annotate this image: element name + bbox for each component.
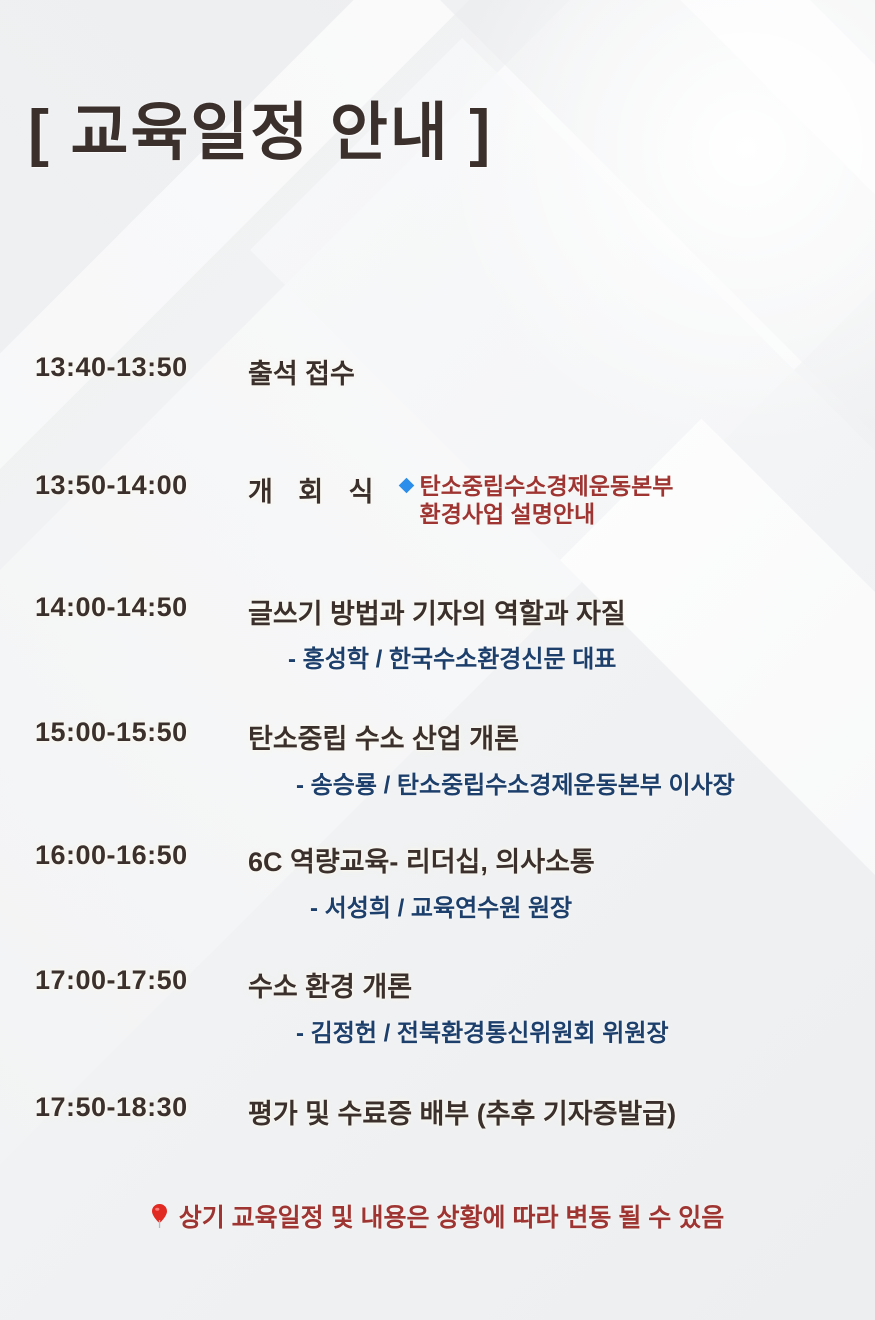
session-speaker: - 송승룡 / 탄소중립수소경제운동본부 이사장 xyxy=(296,765,875,800)
session-note: 탄소중립수소경제운동본부 환경사업 설명안내 xyxy=(401,472,674,528)
session-speaker: - 서성희 / 교육연수원 원장 xyxy=(310,888,875,923)
session-title: 개 회 식 xyxy=(248,470,383,509)
schedule-row: 14:00-14:50 글쓰기 방법과 기자의 역할과 자질 - 홍성학 / 한… xyxy=(0,592,875,674)
schedule-poster: [ 교육일정 안내 ] 13:40-13:50 출석 접수 13:50-14:0… xyxy=(0,0,875,1320)
footer-note: 상기 교육일정 및 내용은 상황에 따라 변동 될 수 있음 xyxy=(0,1198,875,1235)
session-time: 13:50-14:00 xyxy=(0,470,248,501)
note-line-1: 탄소중립수소경제운동본부 xyxy=(401,472,674,500)
session-title: 6C 역량교육- 리더십, 의사소통 xyxy=(248,840,595,879)
schedule-row: 17:50-18:30 평가 및 수료증 배부 (추후 기자증발급) xyxy=(0,1092,875,1131)
note-text-2: 환경사업 설명안내 xyxy=(401,500,674,528)
session-time: 14:00-14:50 xyxy=(0,592,248,623)
session-time: 16:00-16:50 xyxy=(0,840,248,871)
diamond-bullet-icon xyxy=(398,478,414,494)
session-time: 17:50-18:30 xyxy=(0,1092,248,1123)
schedule-row: 13:40-13:50 출석 접수 xyxy=(0,352,875,391)
schedule-row: 13:50-14:00 개 회 식 탄소중립수소경제운동본부 환경사업 설명안내 xyxy=(0,470,875,526)
poster-content: [ 교육일정 안내 ] 13:40-13:50 출석 접수 13:50-14:0… xyxy=(0,0,875,1320)
schedule-row: 16:00-16:50 6C 역량교육- 리더십, 의사소통 - 서성희 / 교… xyxy=(0,840,875,923)
footer-note-text: 상기 교육일정 및 내용은 상황에 따라 변동 될 수 있음 xyxy=(179,1204,725,1232)
schedule-row: 15:00-15:50 탄소중립 수소 산업 개론 - 송승룡 / 탄소중립수소… xyxy=(0,717,875,800)
session-time: 17:00-17:50 xyxy=(0,965,248,996)
session-title: 평가 및 수료증 배부 (추후 기자증발급) xyxy=(248,1092,676,1131)
session-time: 13:40-13:50 xyxy=(0,352,248,383)
session-title: 수소 환경 개론 xyxy=(248,965,412,1004)
page-title: [ 교육일정 안내 ] xyxy=(28,82,492,173)
session-speaker: - 김정헌 / 전북환경통신위원회 위원장 xyxy=(296,1013,875,1048)
pin-icon xyxy=(151,1204,168,1235)
session-time: 15:00-15:50 xyxy=(0,717,248,748)
session-title: 출석 접수 xyxy=(248,352,355,391)
session-speaker: - 홍성학 / 한국수소환경신문 대표 xyxy=(288,639,875,674)
schedule-row: 17:00-17:50 수소 환경 개론 - 김정헌 / 전북환경통신위원회 위… xyxy=(0,965,875,1048)
session-title: 탄소중립 수소 산업 개론 xyxy=(248,717,519,756)
session-title: 글쓰기 방법과 기자의 역할과 자질 xyxy=(248,592,626,631)
note-text-1: 탄소중립수소경제운동본부 xyxy=(420,473,674,499)
